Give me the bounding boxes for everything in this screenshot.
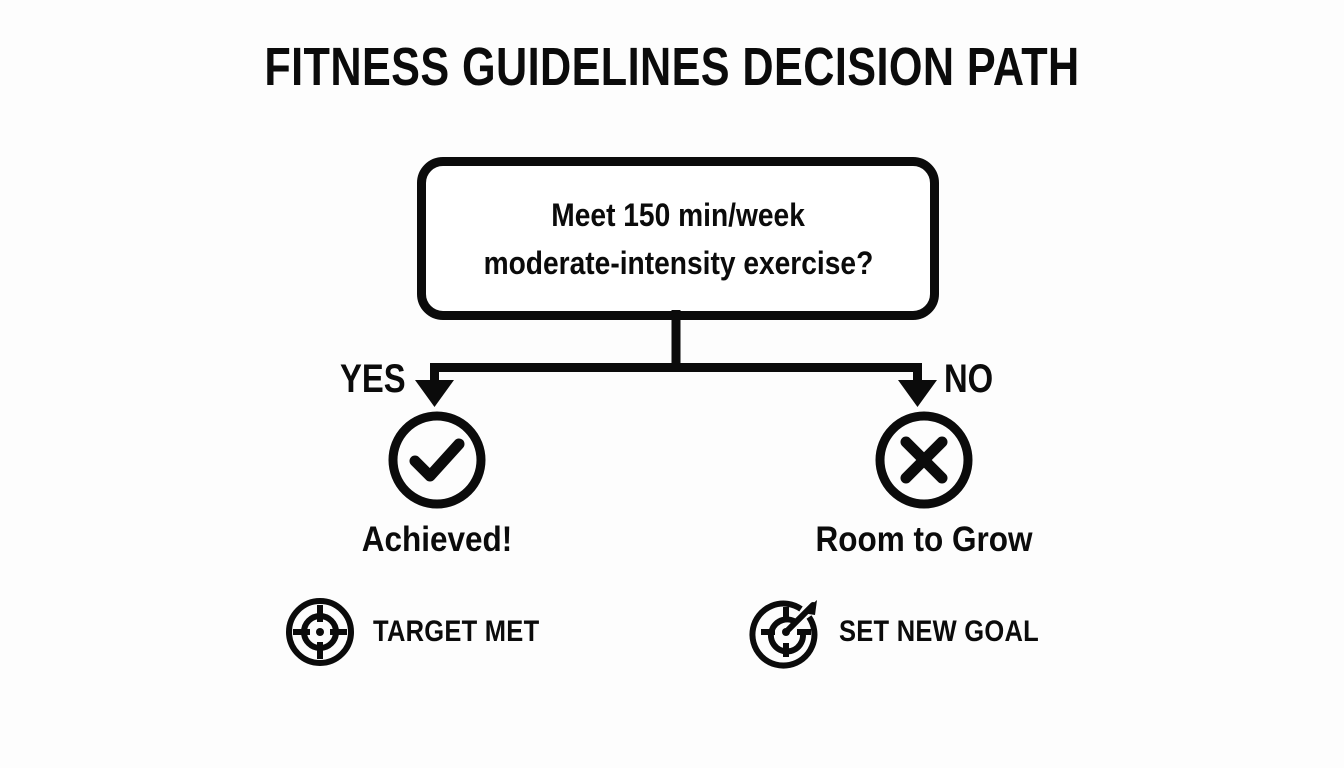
connector-stem bbox=[672, 310, 681, 368]
outcome-yes-label: Achieved! bbox=[302, 520, 572, 560]
page-title: FITNESS GUIDELINES DECISION PATH bbox=[134, 36, 1209, 98]
footer-item-target-met-label: TARGET MET bbox=[373, 615, 539, 649]
connector-bar bbox=[430, 363, 922, 372]
decision-question-box: Meet 150 min/week moderate-intensity exe… bbox=[417, 157, 939, 320]
outcome-yes: Achieved! bbox=[287, 408, 587, 560]
arrowhead-no-icon bbox=[898, 380, 937, 407]
footer-item-set-new-goal: SET NEW GOAL bbox=[749, 595, 1074, 669]
x-circle-icon bbox=[872, 408, 976, 512]
branch-connector bbox=[0, 310, 1344, 420]
decision-path-diagram: FITNESS GUIDELINES DECISION PATH Meet 15… bbox=[0, 0, 1344, 768]
check-circle-icon bbox=[385, 408, 489, 512]
crosshair-target-icon bbox=[283, 595, 357, 669]
decision-question-line-1: Meet 150 min/week bbox=[551, 191, 805, 239]
branch-label-no: NO bbox=[944, 359, 993, 399]
arrowhead-yes-icon bbox=[415, 380, 454, 407]
footer-item-target-met: TARGET MET bbox=[283, 595, 569, 669]
branch-label-yes: YES bbox=[340, 359, 406, 399]
footer-item-set-new-goal-label: SET NEW GOAL bbox=[839, 615, 1039, 649]
outcome-no: Room to Grow bbox=[774, 408, 1074, 560]
target-with-arrow-icon bbox=[749, 595, 823, 669]
outcome-no-label: Room to Grow bbox=[789, 520, 1059, 560]
decision-question-line-2: moderate-intensity exercise? bbox=[483, 239, 873, 287]
